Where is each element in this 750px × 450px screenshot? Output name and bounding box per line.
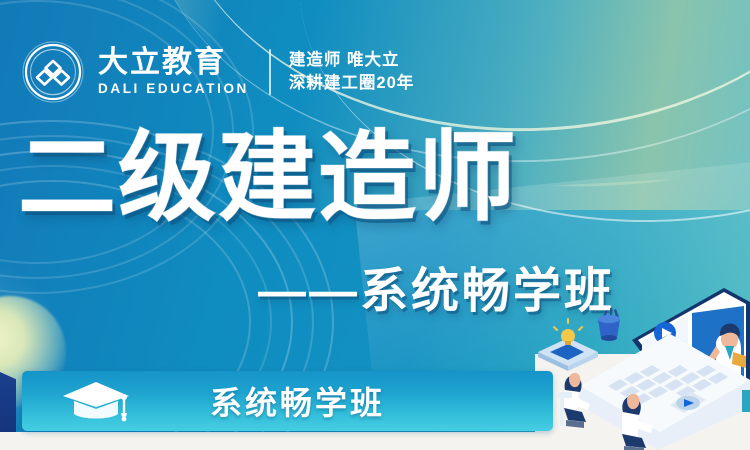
tagline-line-1: 建造师 唯大立 [289, 49, 414, 72]
graduation-cap-icon [60, 379, 132, 423]
navy-accent-sliver [0, 372, 16, 432]
brand-name-cn: 大立教育 [98, 47, 249, 79]
tagline-line-2: 深耕建工圈20年 [289, 72, 414, 95]
header-divider [269, 49, 271, 95]
brand-header: 大立教育 DALI EDUCATION 建造师 唯大立 深耕建工圈20年 [22, 41, 414, 103]
online-class-isometric-illustration [520, 240, 750, 450]
page-title: 二级建造师 [18, 128, 518, 226]
brand-tagline: 建造师 唯大立 深耕建工圈20年 [289, 49, 414, 96]
pen-holder-icon [598, 308, 620, 341]
course-bar-label: 系统畅学班 [132, 378, 553, 424]
tablet-with-lightbulb-icon [538, 319, 598, 371]
course-bar[interactable]: 系统畅学班 [22, 371, 553, 431]
dali-education-circular-emblem-icon [22, 41, 84, 103]
brand-name-block: 大立教育 DALI EDUCATION [98, 47, 249, 97]
promo-banner: 大立教育 DALI EDUCATION 建造师 唯大立 深耕建工圈20年 二级建… [0, 0, 750, 450]
brand-name-en: DALI EDUCATION [98, 81, 249, 97]
